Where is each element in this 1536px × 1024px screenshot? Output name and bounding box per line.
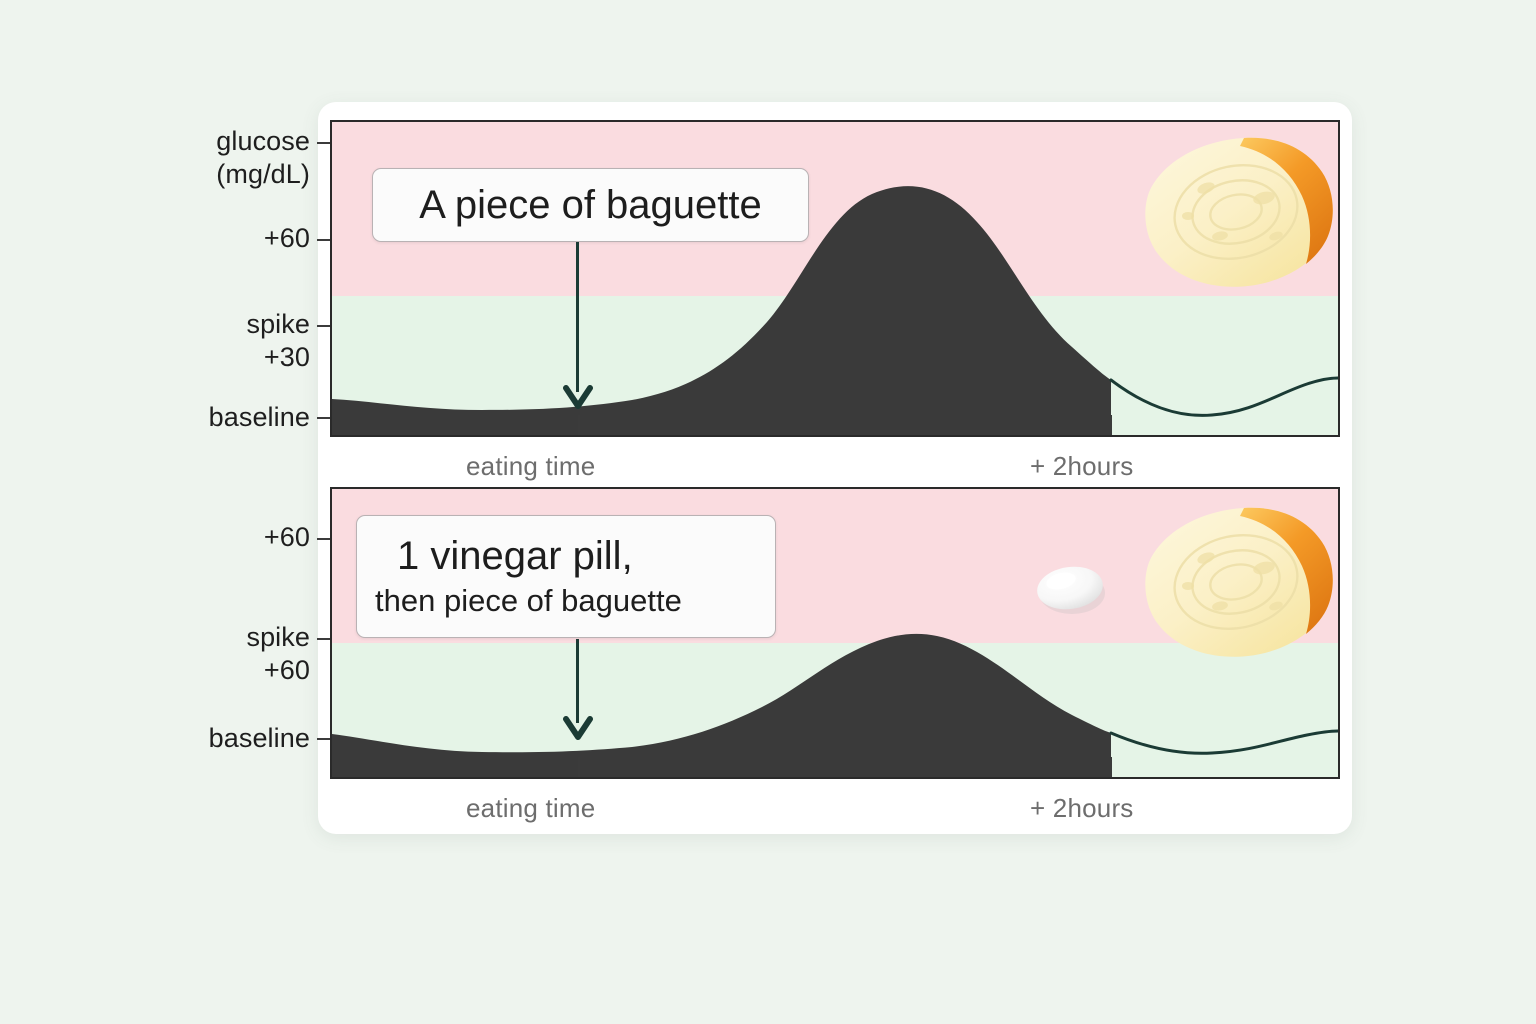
xtick-eating-time-chart2 xyxy=(578,757,580,777)
xtick-2hours-chart2 xyxy=(1110,757,1112,777)
ytick-60-chart1 xyxy=(317,239,330,241)
xtick-2hours-chart1 xyxy=(1110,415,1112,435)
ytick-spike-chart1 xyxy=(317,325,330,327)
chart-baguette-only: glucose (mg/dL) +60 spike +30 baseline e… xyxy=(330,120,1340,490)
pill-icon xyxy=(1030,557,1112,619)
bread-slice-icon xyxy=(1136,132,1342,292)
ytick-spike-chart2 xyxy=(317,638,330,640)
ytick-label-baseline-chart1: baseline xyxy=(120,401,310,434)
ytick-label-baseline-chart2: baseline xyxy=(120,722,310,755)
ytick-baseline-chart1 xyxy=(317,417,330,419)
y-axis-title-chart1: glucose (mg/dL) xyxy=(120,125,310,191)
xtick-label-eating-time-chart1: eating time xyxy=(466,451,595,482)
callout-vinegar-line2: then piece of baguette xyxy=(375,581,757,621)
callout-vinegar-pill: 1 vinegar pill, then piece of baguette xyxy=(356,515,776,638)
ytick-title-chart1 xyxy=(317,142,330,144)
comparison-card: glucose (mg/dL) +60 spike +30 baseline e… xyxy=(318,102,1352,834)
callout-baguette-line1: A piece of baguette xyxy=(419,182,762,228)
callout-baguette: A piece of baguette xyxy=(372,168,809,242)
ytick-label-60-chart1: +60 xyxy=(120,222,310,255)
ytick-label-spike-chart2: spike +60 xyxy=(120,621,310,687)
callout-vinegar-line1: 1 vinegar pill, xyxy=(375,531,757,581)
chart-vinegar-then-baguette: +60 spike +60 baseline eating time + 2ho… xyxy=(330,487,1340,817)
xtick-label-2hours-chart1: + 2hours xyxy=(1030,451,1134,482)
ytick-baseline-chart2 xyxy=(317,738,330,740)
xtick-eating-time-chart1 xyxy=(578,415,580,435)
ytick-label-spike-chart1: spike +30 xyxy=(120,308,310,374)
ytick-label-60-chart2: +60 xyxy=(120,521,310,554)
xtick-label-2hours-chart2: + 2hours xyxy=(1030,793,1134,824)
bread-slice-icon xyxy=(1136,501,1342,663)
ytick-60-chart2 xyxy=(317,538,330,540)
xtick-label-eating-time-chart2: eating time xyxy=(466,793,595,824)
